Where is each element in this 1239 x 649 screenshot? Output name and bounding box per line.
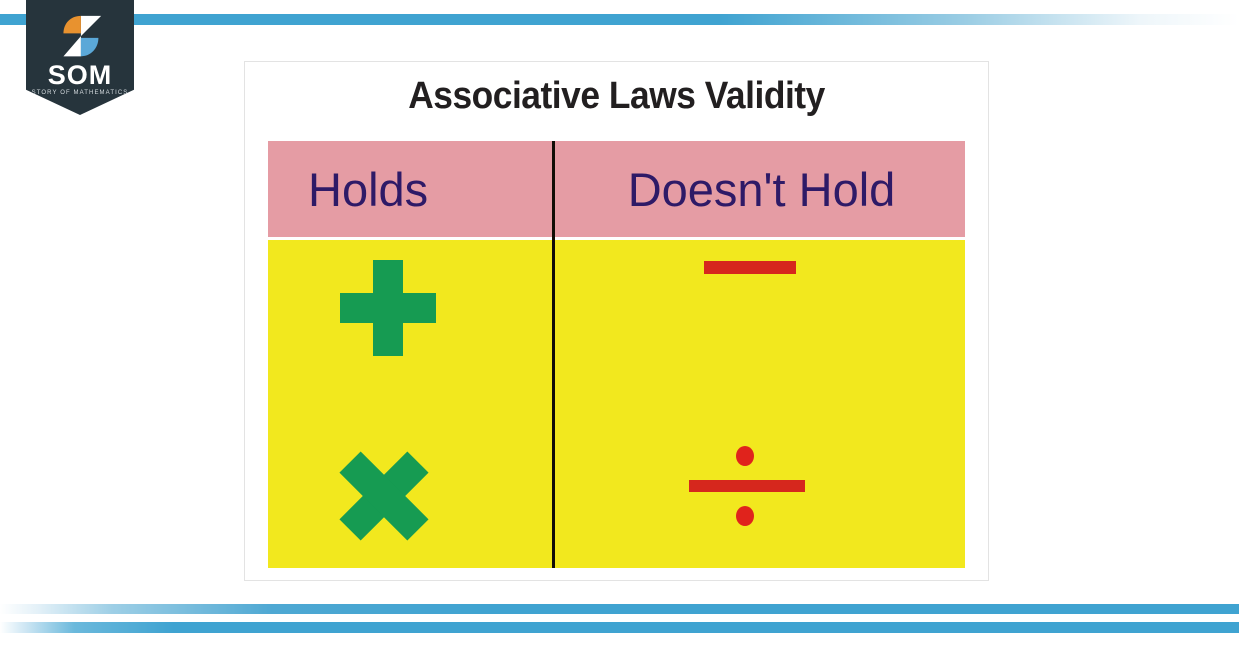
figure-title: Associative Laws Validity xyxy=(271,77,962,115)
division-operator-icon xyxy=(689,440,809,532)
table-cell-doesnt-hold xyxy=(558,240,965,568)
som-wordmark: SOM xyxy=(26,62,134,89)
figure-panel: Associative Laws Validity Holds Doesn't … xyxy=(244,61,989,581)
plus-operator-icon xyxy=(340,260,436,356)
table-body-row xyxy=(268,240,965,568)
table-cell-holds xyxy=(268,240,553,568)
column-header-label-holds: Holds xyxy=(308,166,428,213)
column-header-label-doesnt-hold: Doesn't Hold xyxy=(628,166,896,213)
plus-vertical-bar xyxy=(373,260,403,356)
bottom-accent-rule-upper xyxy=(0,604,1239,614)
multiplication-operator-icon xyxy=(338,450,430,542)
divide-dot-bottom xyxy=(736,506,754,526)
table-header-row: Holds Doesn't Hold xyxy=(268,141,965,237)
divide-bar xyxy=(689,480,805,492)
bottom-accent-rule-lower xyxy=(0,622,1239,633)
table-header-cell-doesnt-hold: Doesn't Hold xyxy=(558,141,965,237)
validity-table: Holds Doesn't Hold xyxy=(268,141,965,568)
divide-dot-top xyxy=(736,446,754,466)
table-header-cell-holds: Holds xyxy=(268,141,553,237)
column-divider xyxy=(552,141,555,568)
top-accent-rule xyxy=(0,14,1239,25)
minus-operator-icon xyxy=(704,261,796,274)
som-logo-badge: SOM STORY OF MATHEMATICS xyxy=(26,0,134,115)
som-tagline: STORY OF MATHEMATICS xyxy=(26,90,134,96)
som-logo-mark-icon xyxy=(57,14,103,60)
